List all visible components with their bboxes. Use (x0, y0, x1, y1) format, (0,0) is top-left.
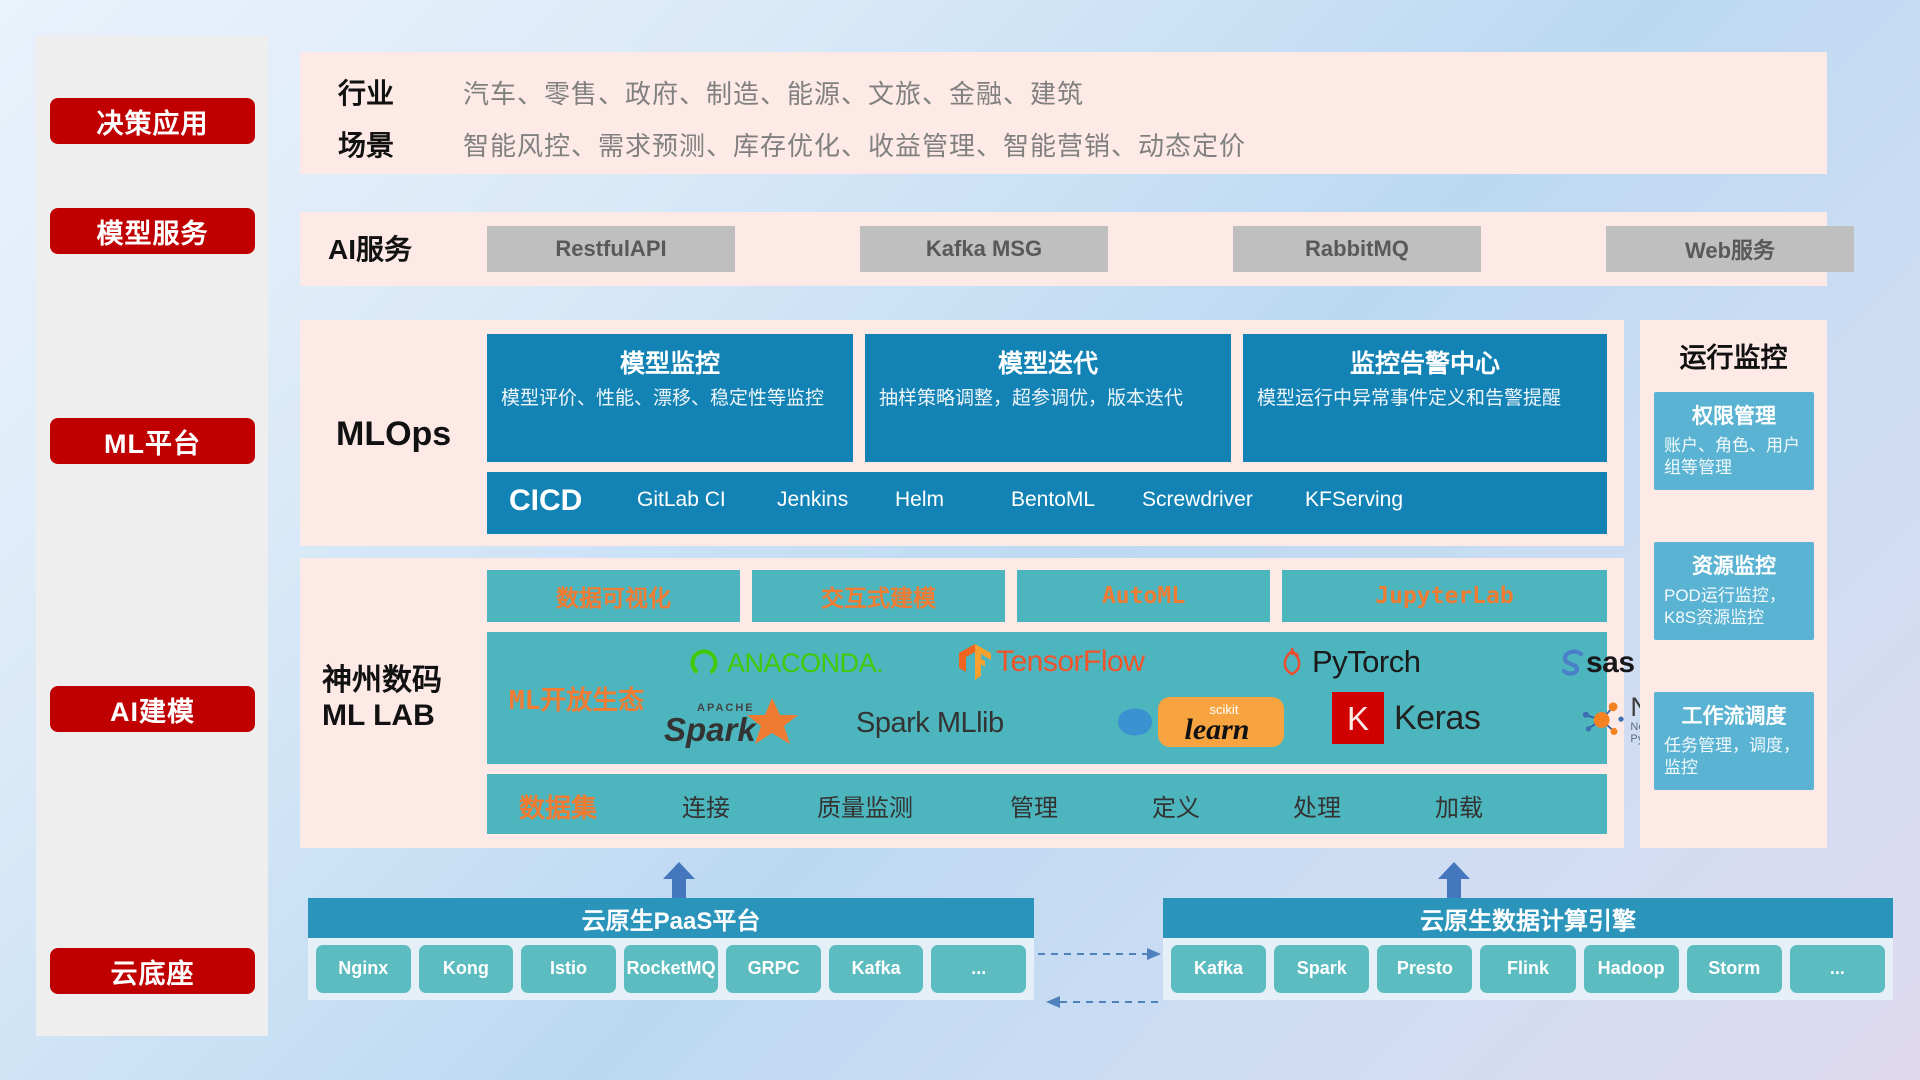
paas-chip-more[interactable]: ... (931, 945, 1026, 993)
dataset-item-manage[interactable]: 管理 (1010, 788, 1058, 823)
engine-chip-hadoop[interactable]: Hadoop (1584, 945, 1679, 993)
cicd-title: CICD (509, 484, 582, 518)
svg-text:K: K (1347, 700, 1369, 737)
dataset-title: 数据集 (519, 788, 597, 825)
dataset-item-define[interactable]: 定义 (1152, 788, 1200, 823)
tensorflow-wordmark: TensorFlow (996, 645, 1144, 679)
dataset-item-process[interactable]: 处理 (1293, 788, 1341, 823)
layer-chip-model-service[interactable]: 模型服务 (50, 208, 255, 254)
tool-box-data-visualization[interactable]: 数据可视化 (487, 570, 740, 622)
paas-chip-row: Nginx Kong Istio RocketMQ GRPC Kafka ... (308, 938, 1034, 1000)
service-box-restfulapi[interactable]: RestfulAPI (487, 226, 735, 272)
engine-chip-presto[interactable]: Presto (1377, 945, 1472, 993)
svg-text:learn: learn (1184, 713, 1249, 746)
cicd-item-screwdriver[interactable]: Screwdriver (1142, 487, 1254, 513)
layer-chip-label: ML平台 (104, 422, 201, 461)
layer-chip-cloud-base[interactable]: 云底座 (50, 948, 255, 994)
keras-logo: K Keras (1332, 692, 1480, 744)
mllib-wordmark: Spark MLlib (856, 707, 1004, 740)
mlops-band: MLOps 模型监控 模型评价、性能、漂移、稳定性等监控 模型迭代 抽样策略调整… (300, 320, 1624, 546)
cicd-item-jenkins[interactable]: Jenkins (777, 487, 889, 513)
anaconda-wordmark: ANACONDA. (727, 648, 883, 679)
cicd-item-bentoml[interactable]: BentoML (1011, 487, 1123, 513)
card-title: 权限管理 (1664, 400, 1804, 430)
data-engine-title: 云原生数据计算引擎 (1163, 898, 1893, 938)
layer-chip-decision[interactable]: 决策应用 (50, 98, 255, 144)
card-desc: 账户、角色、用户组等管理 (1664, 435, 1804, 479)
pytorch-icon (1277, 646, 1307, 678)
dataset-bar: 数据集 连接 质量监测 管理 定义 处理 加载 (487, 774, 1607, 834)
anaconda-logo: ANACONDA. (687, 646, 883, 680)
ml-lab-band: 神州数码 ML LAB 数据可视化 交互式建模 AutoML JupyterLa… (300, 558, 1624, 848)
engine-chip-kafka[interactable]: Kafka (1171, 945, 1266, 993)
card-desc: 抽样策略调整，超参调优，版本迭代 (879, 386, 1217, 411)
runtime-monitoring-title: 运行监控 (1640, 336, 1827, 375)
monitor-card-workflow[interactable]: 工作流调度 任务管理，调度，监控 (1654, 692, 1814, 790)
spark-mllib-logo: APACHE Spark Spark MLlib (662, 694, 1004, 752)
card-title: 工作流调度 (1664, 700, 1804, 730)
paas-chip-rocketmq[interactable]: RocketMQ (624, 945, 719, 993)
keras-icon: K (1332, 692, 1384, 744)
engine-chip-spark[interactable]: Spark (1274, 945, 1369, 993)
runtime-monitoring-band: 运行监控 权限管理 账户、角色、用户组等管理 资源监控 POD运行监控，K8S资… (1640, 320, 1827, 848)
dataset-item-load[interactable]: 加载 (1435, 788, 1483, 823)
pytorch-wordmark: PyTorch (1312, 644, 1420, 680)
card-desc: 模型运行中异常事件定义和告警提醒 (1257, 386, 1593, 411)
svg-text:Spark: Spark (664, 711, 757, 748)
paas-chip-istio[interactable]: Istio (521, 945, 616, 993)
layer-chip-ml-platform[interactable]: ML平台 (50, 418, 255, 464)
dataset-item-connect[interactable]: 连接 (682, 788, 730, 823)
spark-icon: APACHE Spark (662, 694, 852, 752)
cicd-bar: CICD GitLab CI Jenkins Helm BentoML Scre… (487, 472, 1607, 534)
monitor-card-permission[interactable]: 权限管理 账户、角色、用户组等管理 (1654, 392, 1814, 490)
scenario-value: 智能风控、需求预测、库存优化、收益管理、智能营销、动态定价 (463, 126, 1246, 163)
card-desc: 模型评价、性能、漂移、稳定性等监控 (501, 386, 839, 411)
application-band: 行业 汽车、零售、政府、制造、能源、文旅、金融、建筑 场景 智能风控、需求预测、… (300, 52, 1827, 174)
layer-chip-label: 模型服务 (97, 212, 209, 251)
card-title: 监控告警中心 (1257, 344, 1593, 380)
card-title: 模型监控 (501, 344, 839, 380)
service-box-web-service[interactable]: Web服务 (1606, 226, 1854, 272)
keras-wordmark: Keras (1394, 699, 1480, 738)
paas-title: 云原生PaaS平台 (308, 898, 1034, 938)
engine-chip-more[interactable]: ... (1790, 945, 1885, 993)
card-desc: 任务管理，调度，监控 (1664, 735, 1804, 779)
scenario-label: 场景 (338, 124, 463, 164)
cicd-item-gitlab-ci[interactable]: GitLab CI (637, 487, 749, 513)
scikit-learn-icon: scikit learn (1112, 692, 1292, 752)
dataset-item-quality[interactable]: 质量监测 (817, 788, 913, 823)
sas-logo: sas (1557, 646, 1635, 680)
industry-label: 行业 (338, 72, 463, 112)
data-engine-group: 云原生数据计算引擎 Kafka Spark Presto Flink Hadoo… (1163, 898, 1893, 1000)
layer-chip-label: 云底座 (111, 952, 195, 991)
cicd-item-kfserving[interactable]: KFServing (1305, 487, 1417, 513)
ml-ecosystem-label: ML开放生态 (509, 680, 644, 717)
industry-value: 汽车、零售、政府、制造、能源、文旅、金融、建筑 (463, 74, 1084, 111)
paas-chip-kafka[interactable]: Kafka (829, 945, 924, 993)
scikit-learn-logo: scikit learn (1112, 692, 1292, 752)
mlops-card-model-monitoring[interactable]: 模型监控 模型评价、性能、漂移、稳定性等监控 (487, 334, 853, 462)
cicd-item-helm[interactable]: Helm (895, 487, 1007, 513)
mlops-card-model-iteration[interactable]: 模型迭代 抽样策略调整，超参调优，版本迭代 (865, 334, 1231, 462)
ml-ecosystem-box: ML开放生态 ANACONDA. TensorFlow (487, 632, 1607, 764)
monitor-card-resource[interactable]: 资源监控 POD运行监控，K8S资源监控 (1654, 542, 1814, 640)
data-engine-chip-row: Kafka Spark Presto Flink Hadoop Storm ..… (1163, 938, 1893, 1000)
layer-chip-ai-modeling[interactable]: AI建模 (50, 686, 255, 732)
tool-box-automl[interactable]: AutoML (1017, 570, 1270, 622)
service-box-rabbitmq[interactable]: RabbitMQ (1233, 226, 1481, 272)
engine-chip-storm[interactable]: Storm (1687, 945, 1782, 993)
mlops-label: MLOps (336, 414, 451, 454)
industry-row: 行业 汽车、零售、政府、制造、能源、文旅、金融、建筑 (338, 72, 1084, 112)
sas-wordmark: sas (1586, 646, 1635, 680)
card-desc: POD运行监控，K8S资源监控 (1664, 585, 1804, 629)
tool-box-jupyterlab[interactable]: JupyterLab (1282, 570, 1607, 622)
cloud-connectors (1035, 940, 1165, 1020)
ai-service-label: AI服务 (328, 233, 412, 266)
layer-chip-label: AI建模 (110, 690, 195, 729)
service-box-kafka-msg[interactable]: Kafka MSG (860, 226, 1108, 272)
scenario-row: 场景 智能风控、需求预测、库存优化、收益管理、智能营销、动态定价 (338, 124, 1246, 164)
paas-chip-kong[interactable]: Kong (419, 945, 514, 993)
sas-icon (1557, 647, 1589, 679)
networkx-icon (1577, 696, 1626, 744)
layer-rail: 决策应用 模型服务 ML平台 AI建模 云底座 (36, 36, 268, 1036)
paas-chip-grpc[interactable]: GRPC (726, 945, 821, 993)
layer-chip-label: 决策应用 (97, 102, 209, 141)
card-title: 模型迭代 (879, 344, 1217, 380)
card-title: 资源监控 (1664, 550, 1804, 580)
tensorflow-logo: TensorFlow (957, 642, 1144, 682)
ai-service-band: AI服务 RestfulAPI Kafka MSG RabbitMQ Web服务 (300, 212, 1827, 286)
engine-chip-flink[interactable]: Flink (1480, 945, 1575, 993)
tool-box-interactive-modeling[interactable]: 交互式建模 (752, 570, 1005, 622)
anaconda-icon (687, 646, 721, 680)
paas-group: 云原生PaaS平台 Nginx Kong Istio RocketMQ GRPC… (308, 898, 1034, 1000)
tensorflow-icon (957, 642, 993, 682)
ml-lab-label: 神州数码 ML LAB (322, 663, 442, 734)
pytorch-logo: PyTorch (1277, 644, 1420, 680)
paas-chip-nginx[interactable]: Nginx (316, 945, 411, 993)
mlops-card-alert-center[interactable]: 监控告警中心 模型运行中异常事件定义和告警提醒 (1243, 334, 1607, 462)
